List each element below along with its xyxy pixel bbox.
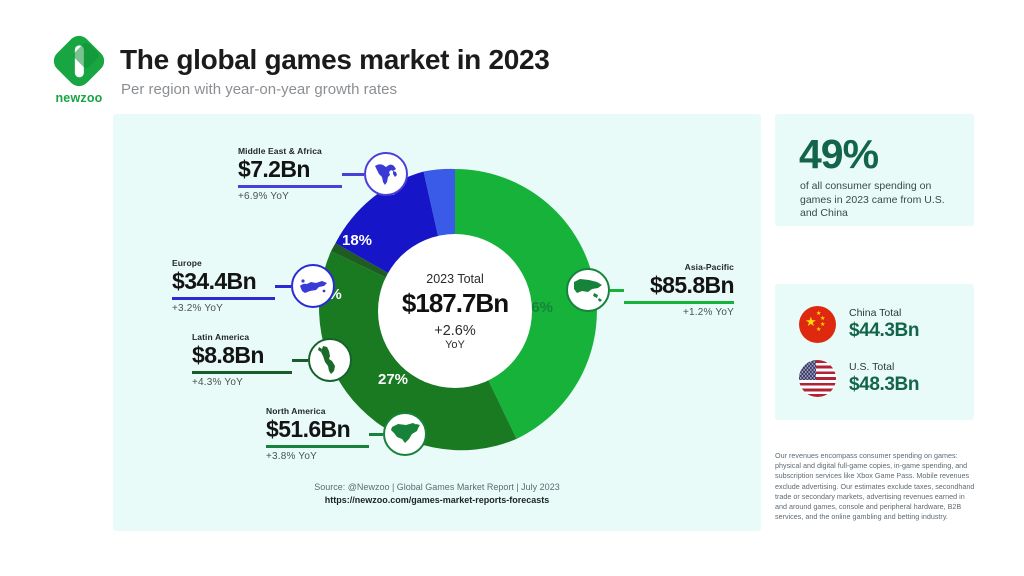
- country-total-row: U.S. Total $48.3Bn: [799, 360, 919, 397]
- asia-pacific-map-icon: [566, 268, 610, 312]
- country-total-text: U.S. Total $48.3Bn: [849, 361, 919, 396]
- stat-description: of all consumer spending on games in 202…: [800, 180, 960, 221]
- callout-rule: [192, 371, 292, 374]
- page-subtitle: Per region with year-on-year growth rate…: [121, 81, 397, 98]
- callout-region-label: Asia-Pacific: [624, 262, 734, 272]
- callout-connector: [610, 289, 624, 292]
- north-america-map-glyph: [389, 422, 421, 446]
- country-total-text: China Total $44.3Bn: [849, 307, 919, 342]
- newzoo-logo: newzoo: [50, 40, 108, 105]
- country-label: U.S. Total: [849, 361, 919, 373]
- europe-map-glyph: [298, 275, 328, 297]
- newzoo-logo-text: newzoo: [50, 91, 108, 105]
- callout-text: Asia-Pacific $85.8Bn +1.2% YoY: [624, 262, 734, 318]
- stat-value: 49%: [799, 131, 878, 178]
- segment-label-europe: 18%: [342, 232, 372, 249]
- latin-america-map-glyph: [317, 345, 343, 375]
- callout-value: $7.2Bn: [238, 156, 342, 183]
- donut-center-total: $187.7Bn: [402, 288, 508, 319]
- callout-value: $85.8Bn: [624, 272, 734, 299]
- callout-europe[interactable]: Europe $34.4Bn +3.2% YoY: [172, 258, 335, 314]
- country-label: China Total: [849, 307, 919, 319]
- callout-yoy: +3.2% YoY: [172, 303, 275, 314]
- callout-latin-america[interactable]: Latin America $8.8Bn +4.3% YoY: [192, 332, 352, 388]
- country-totals-panel: ★ ★★ ★★ China Total $44.3Bn U.S. Total $…: [775, 284, 974, 420]
- country-value: $48.3Bn: [849, 374, 919, 396]
- callout-region-label: Latin America: [192, 332, 292, 342]
- callout-region-label: North America: [266, 406, 369, 416]
- infographic-root: newzoo The global games market in 2023 P…: [0, 0, 1024, 576]
- country-value: $44.3Bn: [849, 320, 919, 342]
- callout-connector: [369, 433, 383, 436]
- callout-text: North America $51.6Bn +3.8% YoY: [266, 406, 369, 462]
- callout-yoy: +6.9% YoY: [238, 191, 342, 202]
- asia-pacific-map-glyph: [572, 277, 604, 303]
- donut-center: 2023 Total $187.7Bn +2.6% YoY: [378, 234, 532, 388]
- donut-center-yoy-sub: YoY: [445, 339, 465, 351]
- source-line-1: Source: @Newzoo | Global Games Market Re…: [113, 482, 761, 492]
- north-america-map-icon: [383, 412, 427, 456]
- callout-asia-pacific[interactable]: Asia-Pacific $85.8Bn +1.2% YoY: [566, 262, 734, 318]
- callout-yoy: +1.2% YoY: [624, 307, 734, 318]
- us-flag-icon: [799, 360, 836, 397]
- africa-map-icon: [364, 152, 408, 196]
- segment-label-north-america: 27%: [378, 371, 408, 388]
- china-flag-icon: ★ ★★ ★★: [799, 306, 836, 343]
- callout-middle-east-africa[interactable]: Middle East & Africa $7.2Bn +6.9% YoY: [238, 146, 408, 202]
- callout-yoy: +3.8% YoY: [266, 451, 369, 462]
- europe-map-icon: [291, 264, 335, 308]
- source-block: Source: @Newzoo | Global Games Market Re…: [113, 482, 761, 505]
- us-flag-canton: [799, 360, 816, 380]
- stat-panel: 49% of all consumer spending on games in…: [775, 114, 974, 226]
- callout-region-label: Europe: [172, 258, 275, 268]
- donut-center-label: 2023 Total: [426, 272, 483, 286]
- callout-rule: [172, 297, 275, 300]
- newzoo-diamond-icon: [49, 31, 108, 90]
- country-total-row: ★ ★★ ★★ China Total $44.3Bn: [799, 306, 919, 343]
- callout-rule: [238, 185, 342, 188]
- fineprint-text: Our revenues encompass consumer spending…: [775, 451, 975, 522]
- callout-text: Europe $34.4Bn +3.2% YoY: [172, 258, 275, 314]
- page-title: The global games market in 2023: [120, 44, 550, 76]
- callout-north-america[interactable]: North America $51.6Bn +3.8% YoY: [266, 406, 427, 462]
- callout-connector: [275, 285, 291, 288]
- callout-text: Latin America $8.8Bn +4.3% YoY: [192, 332, 292, 388]
- callout-yoy: +4.3% YoY: [192, 377, 292, 388]
- callout-region-label: Middle East & Africa: [238, 146, 342, 156]
- source-url[interactable]: https://newzoo.com/games-market-reports-…: [113, 495, 761, 505]
- callout-connector: [342, 173, 364, 176]
- callout-rule: [624, 301, 734, 304]
- callout-value: $34.4Bn: [172, 268, 275, 295]
- donut-center-yoy: +2.6%: [434, 323, 476, 339]
- callout-value: $8.8Bn: [192, 342, 292, 369]
- callout-connector: [292, 359, 308, 362]
- callout-value: $51.6Bn: [266, 416, 369, 443]
- latin-america-map-icon: [308, 338, 352, 382]
- africa-map-glyph: [371, 159, 401, 189]
- callout-text: Middle East & Africa $7.2Bn +6.9% YoY: [238, 146, 342, 202]
- callout-rule: [266, 445, 369, 448]
